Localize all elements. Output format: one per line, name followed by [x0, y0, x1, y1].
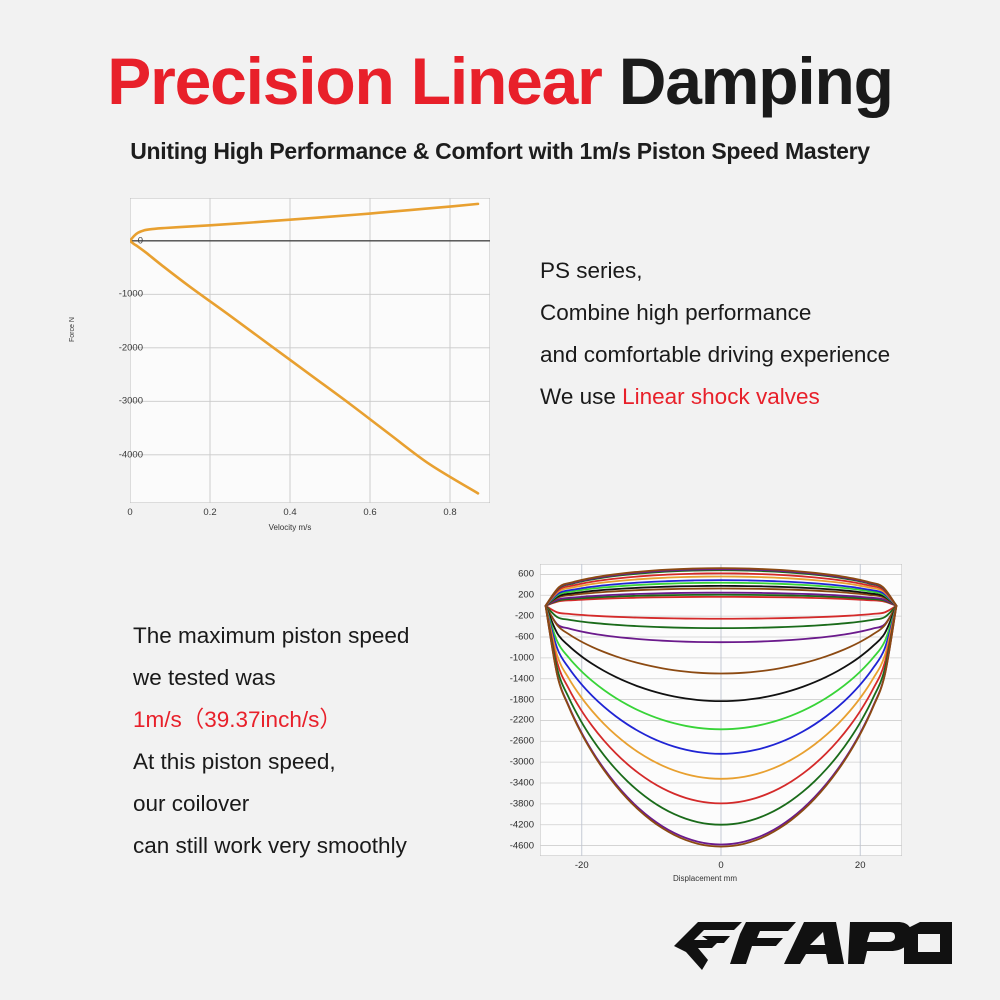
chart1-y-tick: -4000 [119, 449, 143, 460]
chart1-x-tick: 0.2 [203, 507, 216, 518]
speed-line-3-highlight: 1m/s（39.37inch/s） [133, 699, 553, 741]
chart2-y-tick: -200 [492, 611, 534, 622]
ps-series-description: PS series, Combine high performance and … [540, 250, 970, 418]
ps-line-4-prefix: We use [540, 384, 622, 409]
force-displacement-chart: Displacement mm 600200-200-600-1000-1400… [492, 558, 912, 893]
force-velocity-chart: Force N Velocity m/s 0-1000-2000-3000-40… [75, 190, 505, 545]
chart2-x-tick: 20 [855, 860, 866, 871]
chart2-x-tick: -20 [575, 860, 589, 871]
chart1-x-tick: 0.8 [443, 507, 456, 518]
speed-line-6: can still work very smoothly [133, 825, 553, 867]
ps-line-4-highlight: Linear shock valves [622, 384, 820, 409]
chart1-plot-area [130, 198, 490, 503]
chart1-y-tick: -3000 [119, 396, 143, 407]
speed-line-2: we tested was [133, 657, 553, 699]
chart2-y-tick: -4600 [492, 840, 534, 851]
chart2-y-tick: -3800 [492, 798, 534, 809]
ps-line-3: and comfortable driving experience [540, 334, 970, 376]
chart2-y-tick: -2200 [492, 715, 534, 726]
chart2-y-tick: 600 [492, 569, 534, 580]
chart1-x-tick: 0 [127, 507, 132, 518]
piston-speed-description: The maximum piston speed we tested was 1… [133, 615, 553, 867]
ps-line-1: PS series, [540, 250, 970, 292]
chart2-y-tick: -1800 [492, 694, 534, 705]
chart2-x-tick: 0 [718, 860, 723, 871]
chart1-y-axis-label: Force N [69, 317, 76, 342]
title-red-part: Precision Linear [107, 44, 601, 118]
chart1-x-axis-label: Velocity m/s [75, 523, 505, 532]
chart2-y-tick: -1000 [492, 652, 534, 663]
chart1-y-tick: -1000 [119, 289, 143, 300]
speed-line-1: The maximum piston speed [133, 615, 553, 657]
page-subtitle: Uniting High Performance & Comfort with … [0, 138, 1000, 165]
chart1-plot-background [130, 198, 490, 503]
fapo-logo-icon [668, 912, 958, 974]
chart2-y-tick: -1400 [492, 673, 534, 684]
chart2-y-tick: -3000 [492, 757, 534, 768]
chart2-x-axis-label: Displacement mm [540, 874, 870, 883]
ps-line-4: We use Linear shock valves [540, 376, 970, 418]
fapo-logo [668, 912, 958, 974]
speed-line-4: At this piston speed, [133, 741, 553, 783]
header-banner: Precision Linear Damping Uniting High Pe… [0, 0, 1000, 180]
speed-line-5: our coilover [133, 783, 553, 825]
chart2-plot-area [540, 564, 902, 856]
chart1-x-tick: 0.6 [363, 507, 376, 518]
chart2-y-tick: -2600 [492, 736, 534, 747]
ps-line-2: Combine high performance [540, 292, 970, 334]
page-title: Precision Linear Damping [0, 48, 1000, 114]
title-black-part: Damping [619, 44, 893, 118]
chart1-y-tick: -2000 [119, 342, 143, 353]
chart2-y-tick: -600 [492, 632, 534, 643]
chart2-y-tick: -4200 [492, 819, 534, 830]
chart1-x-tick: 0.4 [283, 507, 296, 518]
chart2-y-tick: -3400 [492, 778, 534, 789]
chart2-y-tick: 200 [492, 590, 534, 601]
chart1-y-tick: 0 [138, 235, 143, 246]
